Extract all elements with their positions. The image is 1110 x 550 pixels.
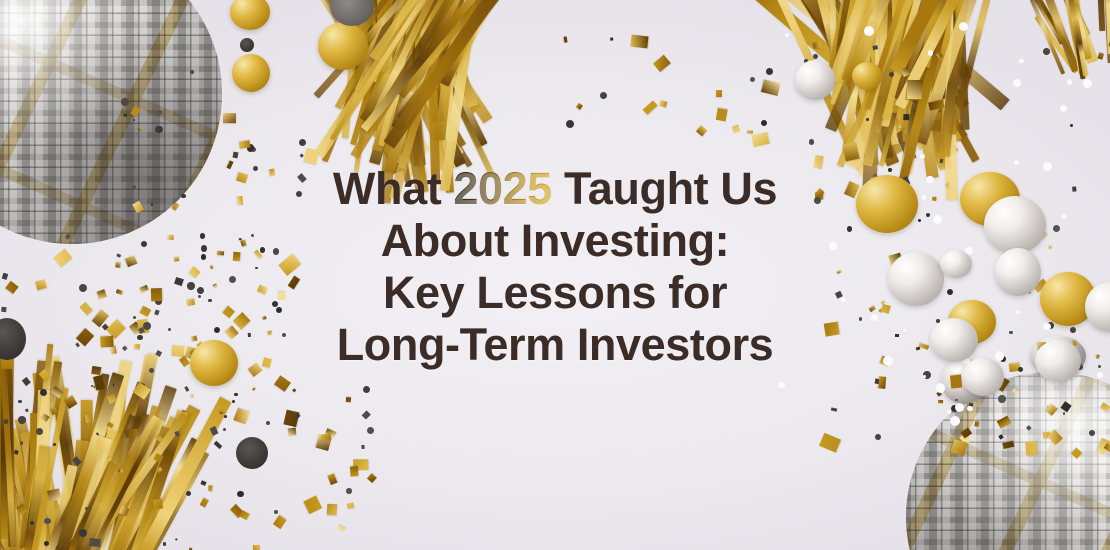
gold-confetti-speck	[642, 101, 657, 116]
dark-confetti-speck	[875, 434, 881, 440]
white-confetti-speck	[1013, 79, 1021, 87]
year-highlight: 2025	[453, 163, 552, 214]
gold-confetti-speck	[273, 516, 286, 530]
dark-confetti-speck	[610, 38, 614, 41]
gold-confetti-speck	[200, 498, 209, 508]
gold-confetti-speck	[234, 408, 251, 425]
disco-shading	[906, 372, 1110, 550]
gold-confetti-speck	[576, 103, 583, 110]
dark-confetti-speck	[299, 139, 306, 146]
title-line-2: About Investing:	[150, 215, 960, 267]
dark-confetti-speck	[299, 154, 303, 158]
dark-confetti-speck	[184, 386, 189, 392]
title-line-4: Long-Term Investors	[150, 319, 960, 371]
gold-confetti-speck	[327, 503, 337, 515]
gold-confetti-speck	[659, 100, 668, 108]
gold-confetti-speck	[630, 34, 648, 48]
dark-confetti-speck	[18, 416, 26, 424]
white-confetti-speck	[947, 410, 951, 414]
gold-confetti-speck	[653, 54, 671, 71]
gold-confetti-speck	[327, 474, 337, 486]
gold-confetti-speck	[223, 113, 236, 123]
dark-confetti-speck	[903, 114, 910, 120]
gold-confetti-speck	[346, 396, 351, 402]
dark-confetti-disc	[236, 437, 268, 469]
gold-confetti-speck	[366, 473, 376, 483]
gold-confetti-speck	[125, 428, 139, 438]
gold-confetti-speck	[191, 394, 194, 399]
white-confetti-speck	[778, 382, 784, 388]
dark-confetti-speck	[1063, 412, 1065, 414]
dark-confetti-speck	[831, 407, 837, 412]
page-title: What 2025 Taught Us About Investing: Key…	[0, 163, 1110, 371]
dark-confetti-speck	[121, 98, 129, 106]
white-confetti-speck	[936, 383, 945, 392]
gold-confetti-speck	[716, 90, 722, 97]
white-confetti-speck	[1097, 372, 1102, 377]
dark-confetti-speck	[4, 419, 9, 424]
dark-confetti-speck	[214, 441, 223, 449]
white-confetti-speck	[928, 50, 934, 56]
dark-confetti-speck	[766, 68, 773, 75]
gold-confetti-speck	[304, 147, 320, 164]
gold-confetti-speck	[252, 387, 256, 391]
gold-confetti-speck	[239, 510, 250, 520]
dark-confetti-speck	[237, 491, 244, 498]
tinsel-strand	[0, 356, 1, 550]
dark-confetti-speck	[224, 415, 227, 418]
dark-confetti-speck	[266, 421, 270, 425]
dark-confetti-speck	[809, 139, 815, 145]
dark-confetti-speck	[90, 538, 102, 547]
dark-confetti-speck	[163, 542, 166, 545]
dark-confetti-speck	[1043, 48, 1050, 55]
disco-ball-bottom-right	[906, 372, 1110, 550]
title-line-1-after: Taught Us	[552, 163, 777, 214]
dark-confetti-speck	[233, 151, 239, 158]
dark-confetti-speck	[367, 427, 374, 434]
gold-confetti-disc	[852, 62, 882, 90]
white-confetti-speck	[1067, 79, 1073, 85]
gold-confetti-speck	[252, 545, 260, 550]
gold-confetti-disc	[230, 0, 270, 30]
white-confetti-speck	[864, 26, 874, 36]
gold-confetti-speck	[697, 126, 708, 137]
white-confetti-speck	[1060, 105, 1067, 112]
white-confetti-speck	[1083, 79, 1092, 88]
gold-confetti-speck	[1025, 441, 1036, 456]
gold-confetti-speck	[907, 80, 922, 99]
dark-confetti-speck	[761, 120, 767, 126]
hero-banner: What 2025 Taught Us About Investing: Key…	[0, 0, 1110, 550]
dark-confetti-speck	[889, 72, 894, 77]
dark-confetti-speck	[600, 92, 607, 99]
dark-confetti-speck	[223, 428, 226, 431]
gold-confetti-speck	[238, 140, 250, 149]
gold-confetti-speck	[288, 427, 297, 435]
dark-confetti-dot	[240, 38, 254, 52]
gold-confetti-speck	[813, 41, 822, 48]
white-confetti-speck	[1019, 59, 1024, 64]
title-line-1-before: What	[333, 163, 453, 214]
gold-confetti-speck	[208, 485, 213, 492]
gold-confetti-speck	[950, 439, 967, 456]
title-line-1: What 2025 Taught Us	[150, 163, 960, 215]
gold-confetti-speck	[564, 36, 567, 42]
dark-confetti-speck	[295, 412, 302, 419]
gold-confetti-speck	[950, 374, 962, 388]
gold-confetti-speck	[274, 376, 291, 393]
dark-confetti-speck	[186, 491, 191, 496]
dark-confetti-speck	[566, 120, 574, 128]
dark-confetti-speck	[361, 444, 365, 449]
dark-confetti-speck	[362, 410, 372, 420]
tinsel-strand	[1094, 0, 1105, 31]
gold-confetti-speck	[938, 400, 943, 404]
dark-confetti-speck	[36, 428, 43, 435]
dark-confetti-speck	[24, 408, 27, 412]
dark-confetti-speck	[750, 77, 755, 82]
gold-confetti-speck	[733, 125, 741, 134]
gold-confetti-speck	[304, 495, 322, 514]
dark-confetti-speck	[157, 110, 162, 115]
white-confetti-speck	[950, 416, 960, 426]
gold-confetti-speck	[350, 465, 359, 476]
gold-confetti-disc	[318, 22, 368, 70]
dark-confetti-speck	[20, 441, 23, 444]
title-line-3: Key Lessons for	[150, 267, 960, 319]
white-confetti-speck	[959, 22, 968, 31]
dark-confetti-speck	[174, 431, 179, 437]
gold-confetti-speck	[1098, 53, 1105, 60]
gold-confetti-speck	[92, 385, 96, 389]
dark-confetti-speck	[124, 113, 127, 116]
gold-confetti-disc	[232, 54, 270, 92]
dark-confetti-speck	[18, 400, 22, 404]
dark-confetti-speck	[79, 529, 87, 537]
dark-confetti-speck	[866, 118, 869, 121]
dark-confetti-speck	[44, 518, 50, 524]
dark-confetti-speck	[22, 377, 31, 386]
dark-confetti-speck	[346, 488, 351, 493]
dark-confetti-speck	[234, 393, 238, 397]
dark-confetti-speck	[813, 54, 818, 59]
gold-confetti-speck	[107, 458, 111, 460]
silver-confetti-disc	[795, 60, 835, 100]
gold-confetti-speck	[819, 433, 841, 452]
dark-confetti-speck	[175, 538, 178, 541]
gold-confetti-speck	[751, 132, 769, 147]
dark-confetti-speck	[1070, 124, 1073, 127]
gold-confetti-speck	[152, 499, 163, 510]
dark-confetti-speck	[201, 480, 207, 485]
dark-confetti-speck	[232, 400, 235, 403]
dark-confetti-speck	[955, 399, 957, 401]
dark-confetti-speck	[274, 510, 278, 514]
gold-confetti-speck	[337, 525, 345, 532]
dark-confetti-speck	[292, 389, 296, 393]
gold-confetti-speck	[717, 108, 729, 121]
gold-confetti-speck	[747, 130, 753, 133]
white-confetti-speck	[785, 33, 789, 37]
dark-confetti-speck	[363, 386, 370, 393]
white-confetti-speck	[967, 406, 972, 411]
gold-confetti-speck	[346, 503, 354, 509]
gold-confetti-speck	[760, 80, 780, 97]
dark-confetti-speck	[113, 383, 114, 386]
dark-confetti-speck	[155, 126, 163, 134]
gold-confetti-speck	[878, 377, 886, 390]
